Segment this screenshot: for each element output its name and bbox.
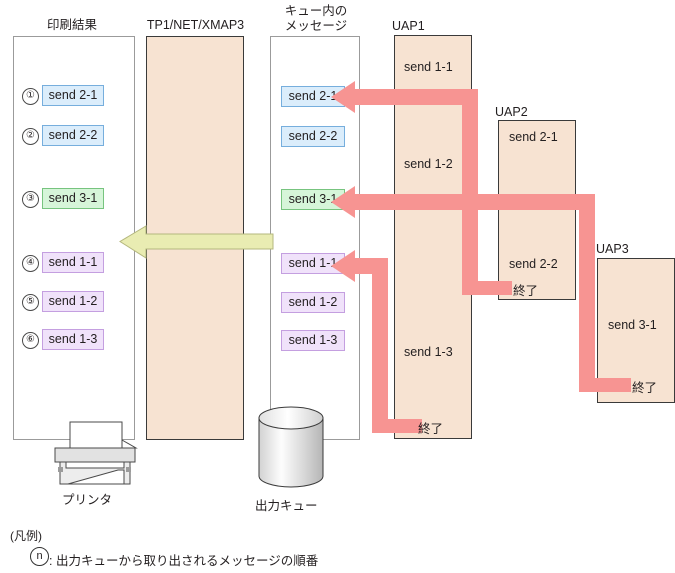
print-message-chip: send 2-1 (42, 85, 104, 106)
order-number-badge: ② (22, 128, 39, 145)
printer-icon (38, 418, 148, 488)
print-message-chip: send 1-3 (42, 329, 104, 350)
order-number-badge: ⑤ (22, 294, 39, 311)
column-title-queue-line2: メッセージ (272, 19, 360, 34)
legend-header: (凡例) (10, 527, 42, 544)
uap3-end-label: 終了 (632, 377, 657, 396)
uap1-call-label: send 1-1 (404, 60, 453, 74)
print-message-chip: send 1-1 (42, 252, 104, 273)
column-title-uap1: UAP1 (392, 19, 440, 34)
legend-description: : 出力キューから取り出されるメッセージの順番 (49, 550, 318, 569)
order-number-badge: ③ (22, 191, 39, 208)
queue-message-chip: send 1-3 (281, 330, 345, 351)
flow-uap1-to-queue-1 (352, 89, 478, 105)
flow-uap3-to-queue-3 (352, 194, 595, 210)
column-title-queue-line1: キュー内の (272, 4, 360, 19)
uap3-call-label: send 3-1 (608, 318, 657, 332)
printer-label: プリンタ (62, 489, 112, 508)
flow-arrowhead-icon (330, 186, 356, 218)
legend-order-badge: n (30, 547, 49, 566)
output-queue-label: 出力キュー (255, 495, 318, 514)
flow-uap1-vertical (372, 258, 388, 432)
output-queue-cylinder-icon (255, 406, 331, 492)
diagram-canvas: 印刷結果 TP1/NET/XMAP3 キュー内の メッセージ UAP1 UAP2… (0, 0, 675, 573)
flow-uap2-end-stub (462, 281, 512, 295)
queue-message-chip: send 1-2 (281, 292, 345, 313)
uap1-end-label: 終了 (418, 418, 443, 437)
order-number-badge: ① (22, 88, 39, 105)
print-message-chip: send 2-2 (42, 125, 104, 146)
order-number-badge: ④ (22, 255, 39, 272)
uap2-end-label: 終了 (513, 280, 538, 299)
column-title-uap2: UAP2 (495, 105, 543, 120)
column-title-tp1: TP1/NET/XMAP3 (138, 18, 253, 33)
uap1-call-label: send 1-2 (404, 157, 453, 171)
queue-message-chip: send 2-2 (281, 126, 345, 147)
flow-uap2-vertical (462, 89, 478, 294)
print-message-chip: send 3-1 (42, 188, 104, 209)
uap2-call-label: send 2-1 (509, 130, 558, 144)
uap1-call-label: send 1-3 (404, 345, 453, 359)
order-number-badge: ⑥ (22, 332, 39, 349)
uap2-process-box (498, 120, 576, 300)
column-title-print-result: 印刷結果 (12, 18, 132, 33)
print-message-chip: send 1-2 (42, 291, 104, 312)
flow-arrowhead-icon (330, 81, 356, 113)
flow-uap3-end-stub (579, 378, 631, 392)
flow-arrowhead-icon (330, 250, 356, 282)
flow-uap1-end-stub (372, 419, 422, 433)
print-flow-arrow-icon (118, 225, 276, 265)
column-title-uap3: UAP3 (596, 242, 644, 257)
uap2-call-label: send 2-2 (509, 257, 558, 271)
flow-uap3-vertical (579, 194, 595, 392)
